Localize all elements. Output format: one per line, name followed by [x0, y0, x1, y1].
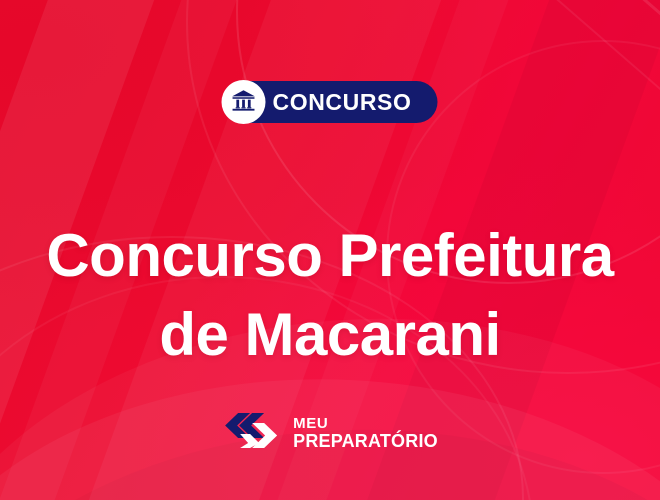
brand-logo-text: MEU PREPARATÓRIO: [293, 416, 438, 452]
page-title: Concurso Prefeitura de Macarani: [0, 216, 660, 374]
badge-label: CONCURSO: [273, 91, 412, 114]
concurso-badge: CONCURSO: [223, 81, 438, 123]
concurso-banner: CONCURSO Concurso Prefeitura de Macarani: [0, 0, 660, 500]
page-title-line-1: Concurso Prefeitura: [26, 216, 634, 295]
brand-logo: MEU PREPARATÓRIO: [222, 410, 438, 457]
banner-content: CONCURSO Concurso Prefeitura de Macarani: [0, 0, 660, 500]
bank-building-icon: [231, 87, 257, 118]
brand-name-bottom: PREPARATÓRIO: [293, 432, 438, 451]
badge-icon-circle: [222, 80, 266, 124]
double-chevron-arrow-icon: [222, 410, 280, 457]
page-title-line-2: de Macarani: [26, 295, 634, 374]
brand-name-top: MEU: [293, 416, 438, 432]
